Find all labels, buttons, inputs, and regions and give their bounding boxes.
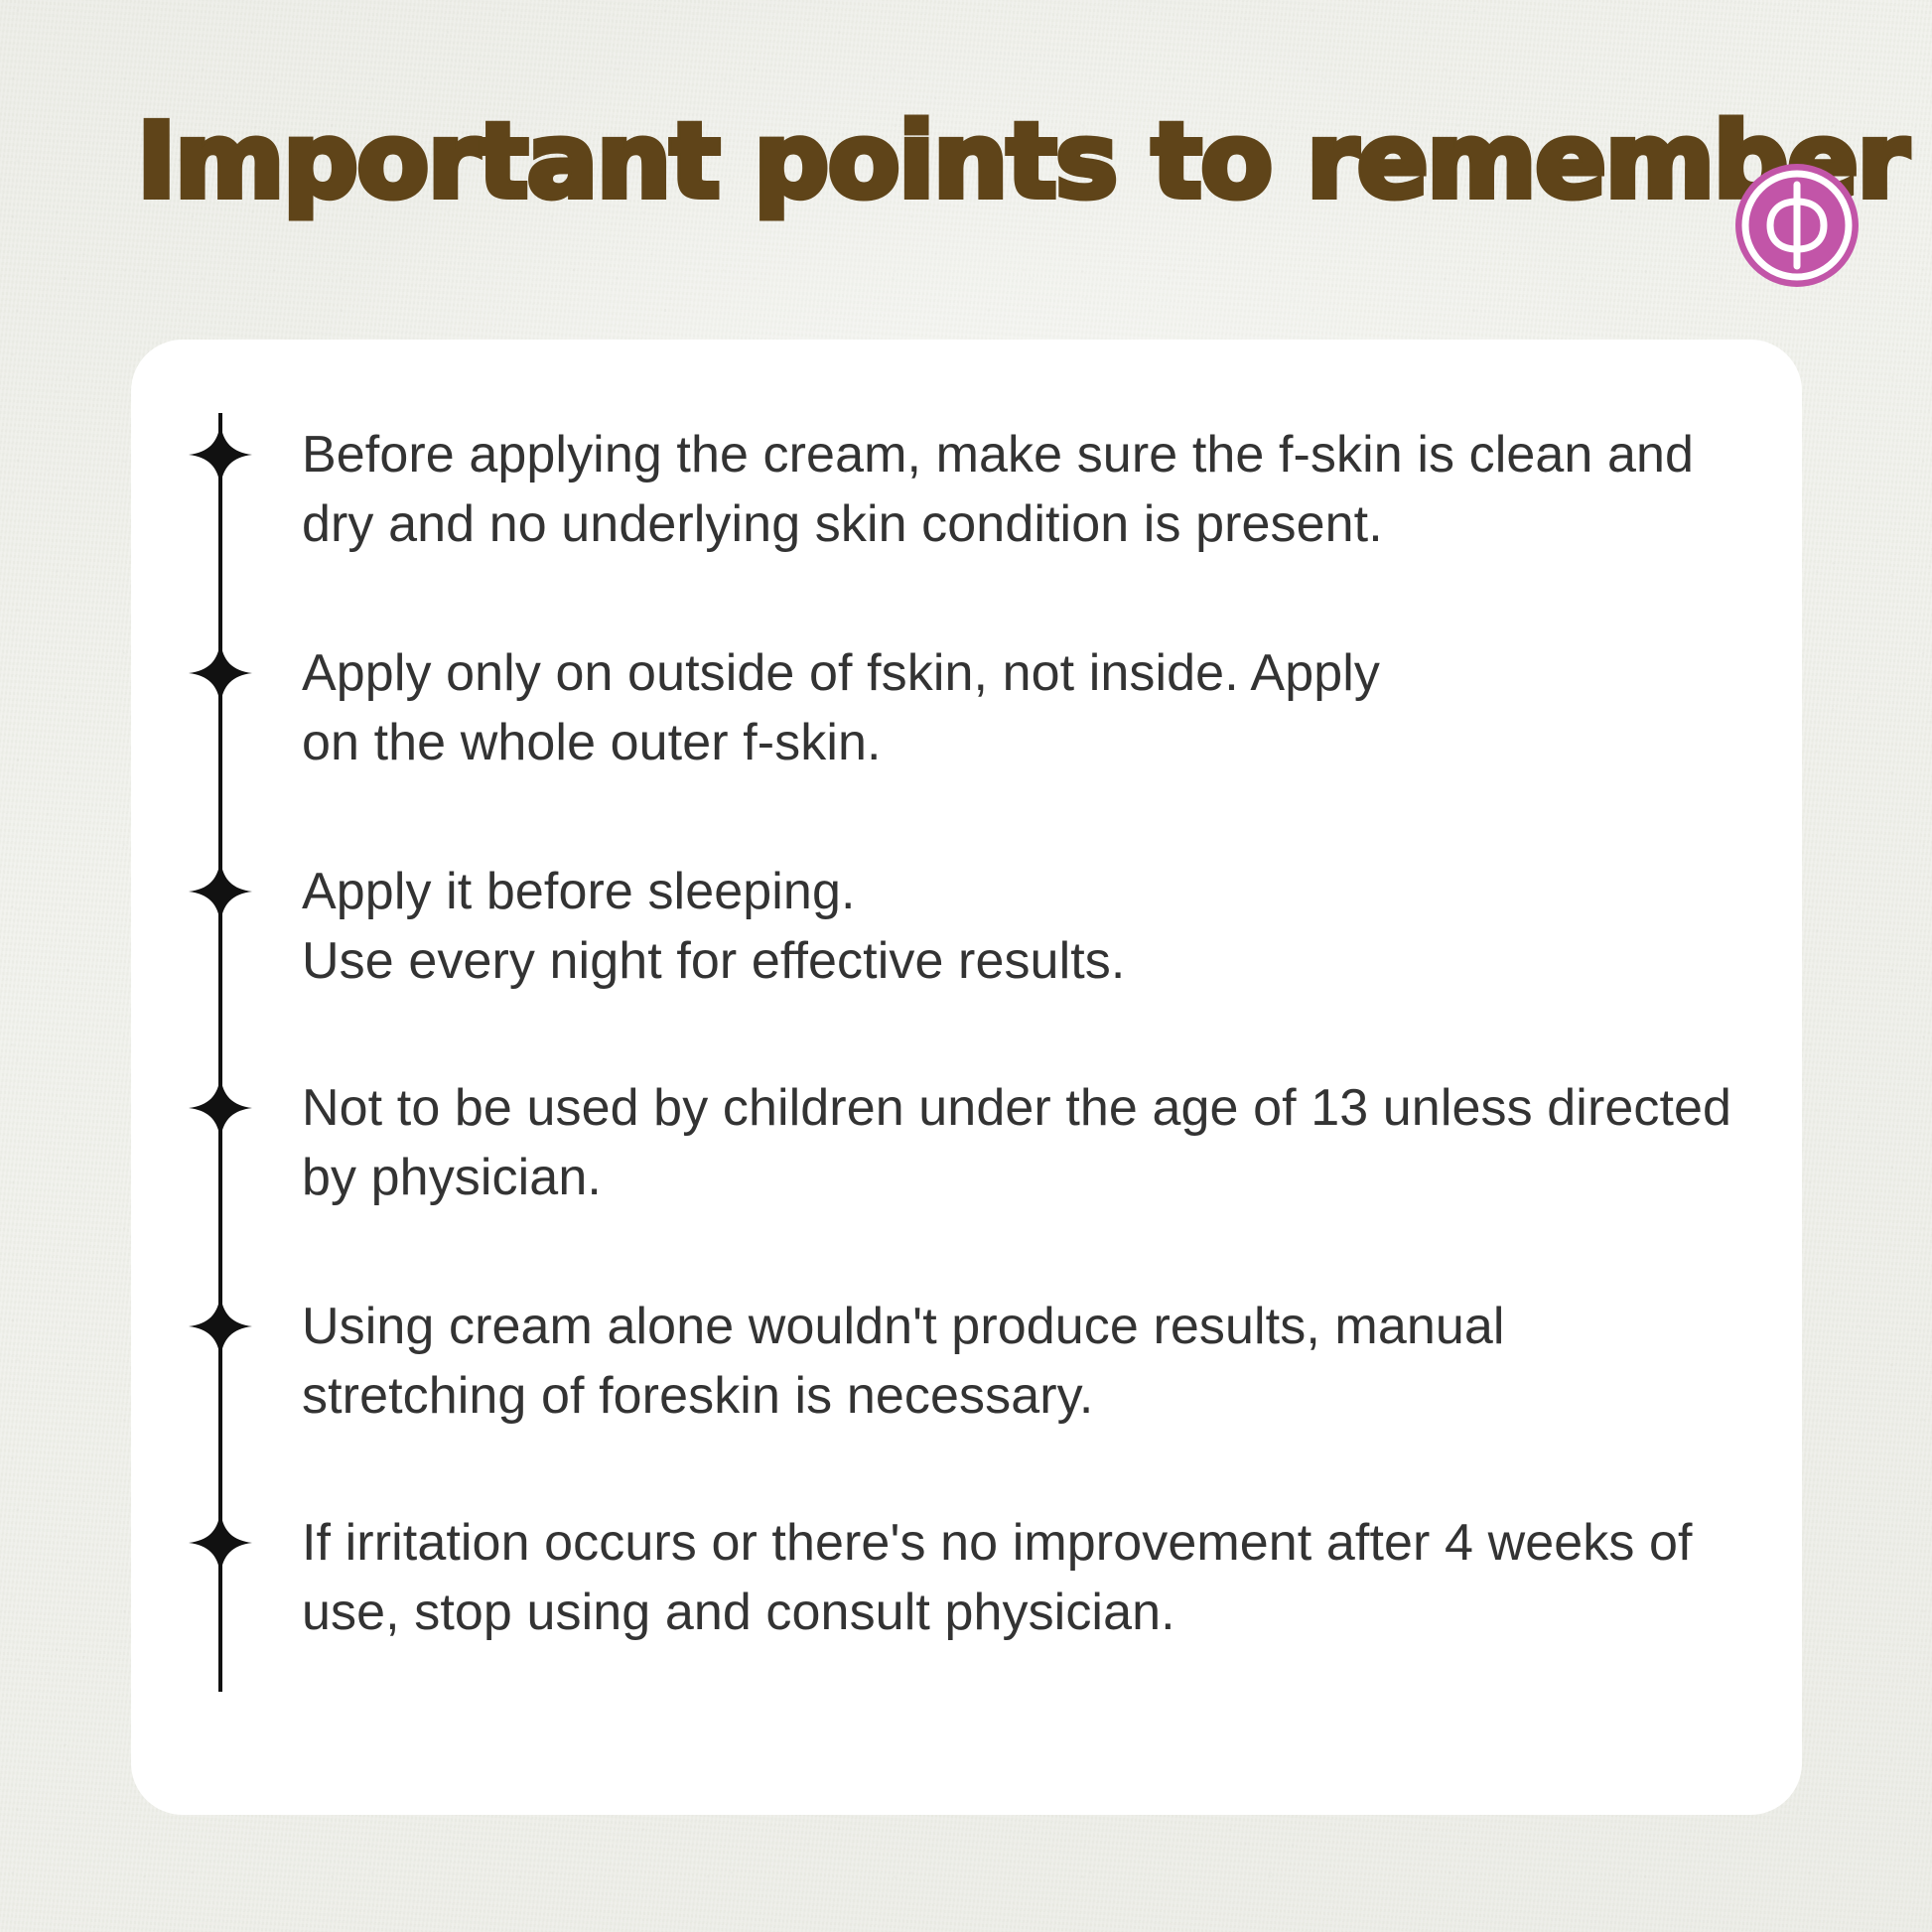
point-line: stretching of foreskin is necessary. bbox=[302, 1367, 1093, 1425]
point-text: Apply it before sleeping. Use every nigh… bbox=[302, 858, 1125, 996]
slide-canvas: Important points to remember bbox=[0, 0, 1932, 1932]
four-point-star-bullet-icon bbox=[187, 1293, 254, 1360]
list-item: Before applying the cream, make sure the… bbox=[131, 421, 1742, 559]
point-line: on the whole outer f-skin. bbox=[302, 714, 882, 771]
four-point-star-bullet-icon bbox=[187, 858, 254, 925]
point-line: Not to be used by children under the age… bbox=[302, 1079, 1533, 1137]
four-point-star-bullet-icon bbox=[187, 1509, 254, 1577]
point-line: Apply it before sleeping. bbox=[302, 863, 856, 920]
page-title: Important points to remember bbox=[137, 109, 1878, 212]
list-item: Apply only on outside of fskin, not insi… bbox=[131, 639, 1742, 777]
point-line: Use every night for effective results. bbox=[302, 932, 1125, 990]
list-item: Using cream alone wouldn't produce resul… bbox=[131, 1293, 1742, 1431]
point-line: Before applying the cream, make sure the… bbox=[302, 426, 1592, 483]
content-card: Before applying the cream, make sure the… bbox=[131, 340, 1802, 1815]
timeline-rail bbox=[218, 413, 222, 1692]
point-text: Using cream alone wouldn't produce resul… bbox=[302, 1293, 1742, 1431]
point-line: Apply only on outside of fskin, not insi… bbox=[302, 644, 1380, 702]
point-line: If irritation occurs or there's no impro… bbox=[302, 1514, 1473, 1572]
list-item: If irritation occurs or there's no impro… bbox=[131, 1509, 1742, 1647]
brand-logo[interactable] bbox=[1732, 161, 1862, 290]
point-text: Before applying the cream, make sure the… bbox=[302, 421, 1742, 559]
point-text: If irritation occurs or there's no impro… bbox=[302, 1509, 1742, 1647]
header: Important points to remember bbox=[0, 109, 1932, 258]
four-point-star-bullet-icon bbox=[187, 1074, 254, 1142]
point-text: Apply only on outside of fskin, not insi… bbox=[302, 639, 1380, 777]
phi-circle-logo-icon bbox=[1732, 161, 1862, 290]
point-line: Using cream alone wouldn't produce resul… bbox=[302, 1298, 1505, 1355]
four-point-star-bullet-icon bbox=[187, 421, 254, 488]
point-text: Not to be used by children under the age… bbox=[302, 1074, 1742, 1212]
four-point-star-bullet-icon bbox=[187, 639, 254, 707]
list-item: Apply it before sleeping. Use every nigh… bbox=[131, 858, 1742, 996]
list-item: Not to be used by children under the age… bbox=[131, 1074, 1742, 1212]
